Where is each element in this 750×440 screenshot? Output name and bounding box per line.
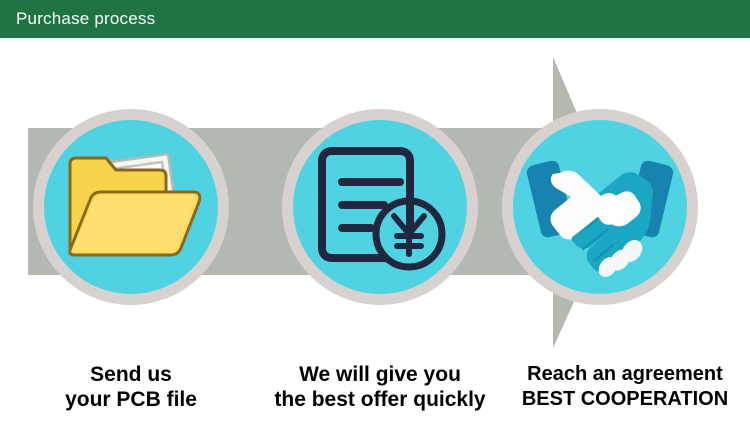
step-1-caption-line-1: Send us <box>0 362 262 387</box>
page-title: Purchase process <box>16 8 155 30</box>
step-3-caption-line-2: BEST COOPERATION <box>500 387 750 412</box>
header-bar: Purchase process <box>0 0 750 38</box>
step-3-caption: Reach an agreement BEST COOPERATION <box>500 362 750 412</box>
step-2-circle-inner <box>293 120 467 294</box>
step-2-caption-line-2: the best offer quickly <box>248 387 512 412</box>
step-3-circle <box>502 109 698 305</box>
purchase-process-infographic: Purchase process <box>0 0 750 440</box>
step-1-caption-line-2: your PCB file <box>0 387 262 412</box>
handshake-icon <box>513 120 687 294</box>
step-2-caption: We will give you the best offer quickly <box>248 362 512 412</box>
folder-icon <box>44 120 218 294</box>
step-1-circle <box>33 109 229 305</box>
invoice-yen-icon <box>293 120 467 294</box>
step-3-caption-line-1: Reach an agreement <box>500 362 750 387</box>
step-2-caption-line-1: We will give you <box>248 362 512 387</box>
step-3-circle-inner <box>513 120 687 294</box>
step-1-caption: Send us your PCB file <box>0 362 262 412</box>
step-2-circle <box>282 109 478 305</box>
step-1-circle-inner <box>44 120 218 294</box>
